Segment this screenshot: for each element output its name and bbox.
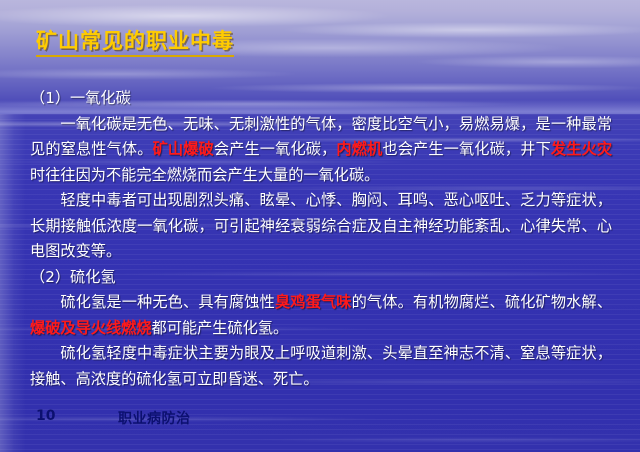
- page-number: 10: [36, 408, 55, 424]
- co-highlight-mine-blasting: 矿山爆破: [153, 140, 214, 158]
- h2s-highlight-blasting-fuse-burning: 爆破及导火线燃烧: [30, 319, 152, 337]
- presentation-slide: 矿山常见的职业中毒 （1）一氧化碳 一氧化碳是无色、无味、无刺激性的气体，密度比…: [0, 0, 640, 452]
- h2s-text-1: 硫化氢是一种无色、具有腐蚀性: [60, 293, 275, 311]
- h2s-highlight-rotten-egg-odor: 臭鸡蛋气味: [275, 293, 352, 311]
- h2s-text-3: 都可能产生硫化氢。: [152, 319, 289, 337]
- paragraph-h2s-symptoms: 硫化氢轻度中毒症状主要为眼及上呼吸道刺激、头晕直至神志不清、窒息等症状，接触、高…: [30, 341, 612, 392]
- slide-footer: 10 职业病防治: [0, 408, 640, 438]
- slide-title: 矿山常见的职业中毒: [36, 28, 234, 57]
- slide-body: （1）一氧化碳 一氧化碳是无色、无味、无刺激性的气体，密度比空气小，易燃易爆，是…: [30, 86, 612, 392]
- h2s-text-2: 的气体。有机物腐烂、硫化矿物水解、: [352, 293, 612, 311]
- footer-label: 职业病防治: [118, 408, 191, 428]
- co-text-4: 时往往因为不能完全燃烧而会产生大量的一氧化碳。: [30, 166, 379, 184]
- paragraph-co-description: 一氧化碳是无色、无味、无刺激性的气体，密度比空气小，易燃易爆，是一种最常见的窒息…: [30, 112, 612, 189]
- co-highlight-combustion-engine: 内燃机: [336, 140, 382, 158]
- section-heading-carbon-monoxide: （1）一氧化碳: [30, 86, 612, 112]
- section-heading-hydrogen-sulfide: （2）硫化氢: [30, 265, 612, 291]
- slide-content: 矿山常见的职业中毒 （1）一氧化碳 一氧化碳是无色、无味、无刺激性的气体，密度比…: [0, 0, 640, 452]
- co-text-3: 也会产生一氧化碳，井下: [382, 140, 551, 158]
- paragraph-co-symptoms: 轻度中毒者可出现剧烈头痛、眩晕、心悸、胸闷、耳鸣、恶心呕吐、乏力等症状，长期接触…: [30, 188, 612, 265]
- paragraph-h2s-description: 硫化氢是一种无色、具有腐蚀性臭鸡蛋气味的气体。有机物腐烂、硫化矿物水解、爆破及导…: [30, 290, 612, 341]
- co-text-2: 会产生一氧化碳，: [214, 140, 337, 158]
- co-highlight-fire-outbreak: 发生火灾: [551, 140, 612, 158]
